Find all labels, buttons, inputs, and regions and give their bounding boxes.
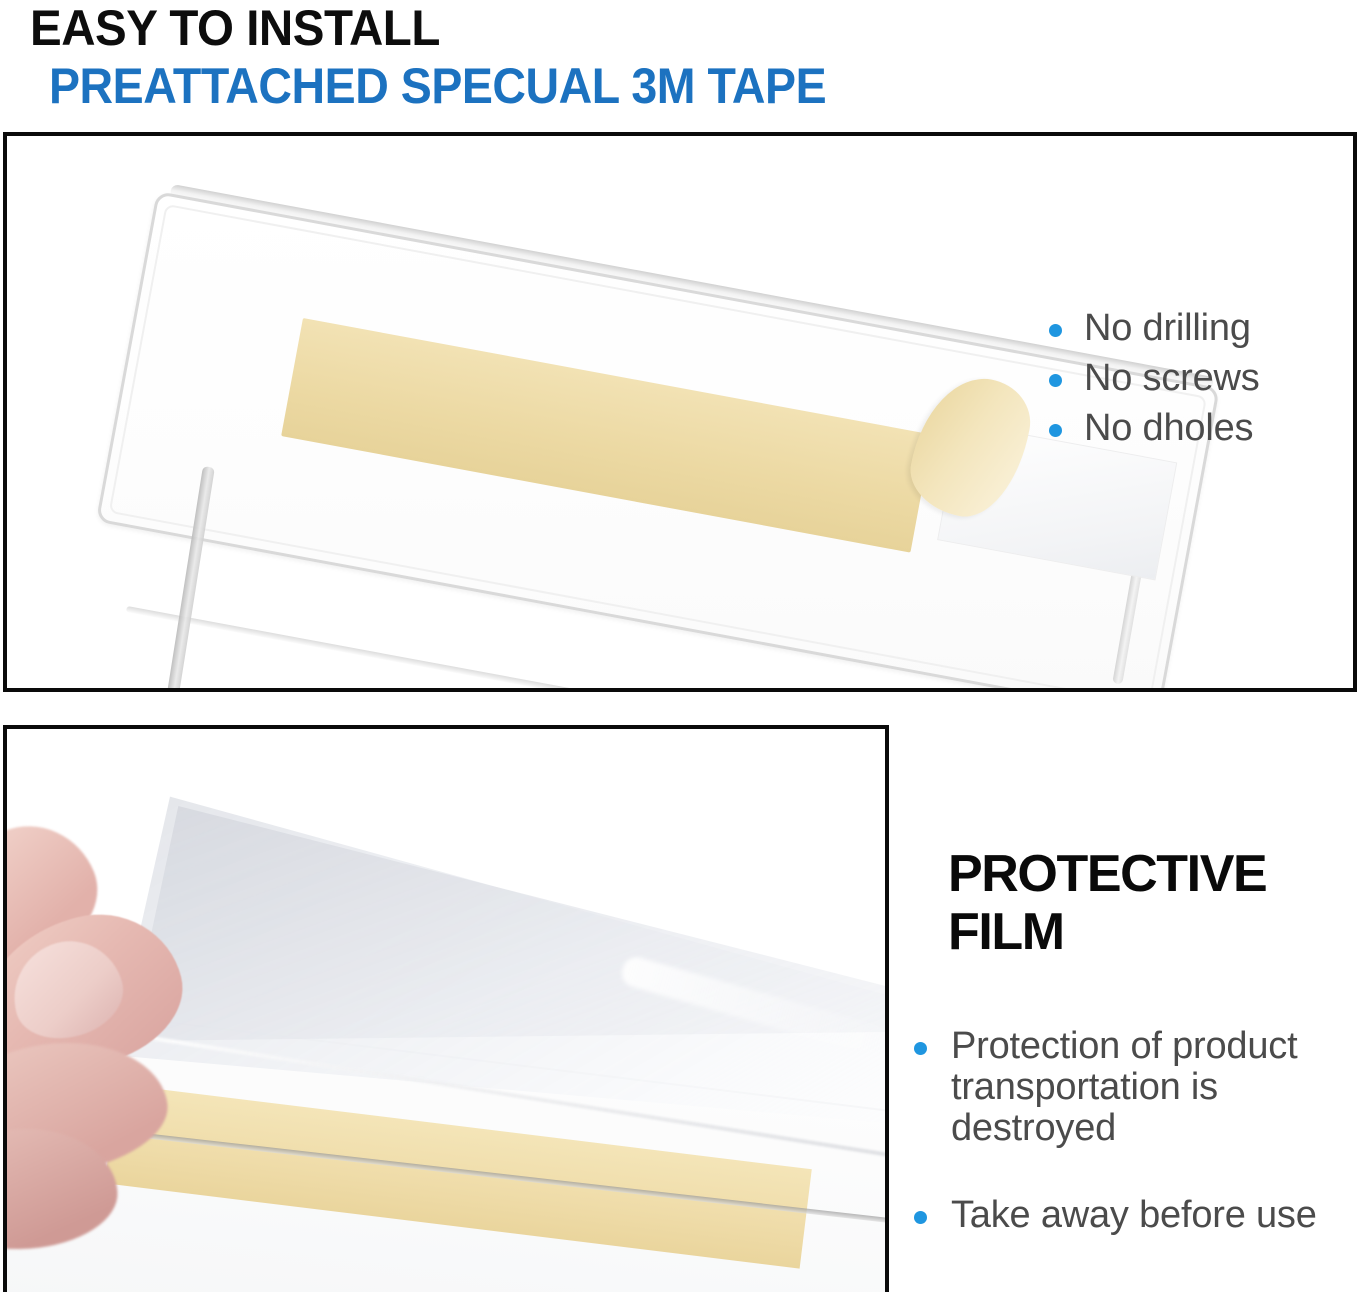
list-item-label: No screws — [1084, 358, 1260, 399]
headline-primary: EASY TO INSTALL — [30, 2, 440, 54]
bullet-dot-icon — [1049, 424, 1062, 437]
protective-film-heading: PROTECTIVE FILM — [948, 845, 1266, 961]
list-item: Protection of product transportation is … — [914, 1026, 1354, 1149]
list-item-label: No drilling — [1084, 308, 1251, 349]
install-feature-panel: No drilling No screws No dholes — [3, 132, 1357, 692]
list-item: No dholes — [1049, 408, 1260, 449]
list-item: No screws — [1049, 358, 1260, 399]
protective-film-benefits-list: Protection of product transportation is … — [914, 1026, 1354, 1282]
bullet-dot-icon — [1049, 324, 1062, 337]
list-item-label: Protection of product transportation is … — [951, 1026, 1351, 1149]
peeling-protective-film-image — [7, 729, 885, 1292]
bullet-dot-icon — [914, 1042, 927, 1055]
hand — [3, 789, 297, 1259]
list-item: Take away before use — [914, 1195, 1354, 1236]
protective-film-heading-line1: PROTECTIVE — [948, 845, 1266, 903]
install-benefits-list: No drilling No screws No dholes — [1049, 308, 1260, 458]
list-item-label: Take away before use — [951, 1195, 1351, 1236]
list-item: No drilling — [1049, 308, 1260, 349]
list-item-label: No dholes — [1084, 408, 1253, 449]
headline-block: EASY TO INSTALL PREATTACHED SPECUAL 3M T… — [0, 0, 1360, 130]
bullet-dot-icon — [914, 1211, 927, 1224]
headline-secondary: PREATTACHED SPECUAL 3M TAPE — [49, 60, 826, 112]
protective-film-panel — [3, 725, 889, 1292]
protective-film-heading-line2: FILM — [948, 903, 1266, 961]
bullet-dot-icon — [1049, 374, 1062, 387]
